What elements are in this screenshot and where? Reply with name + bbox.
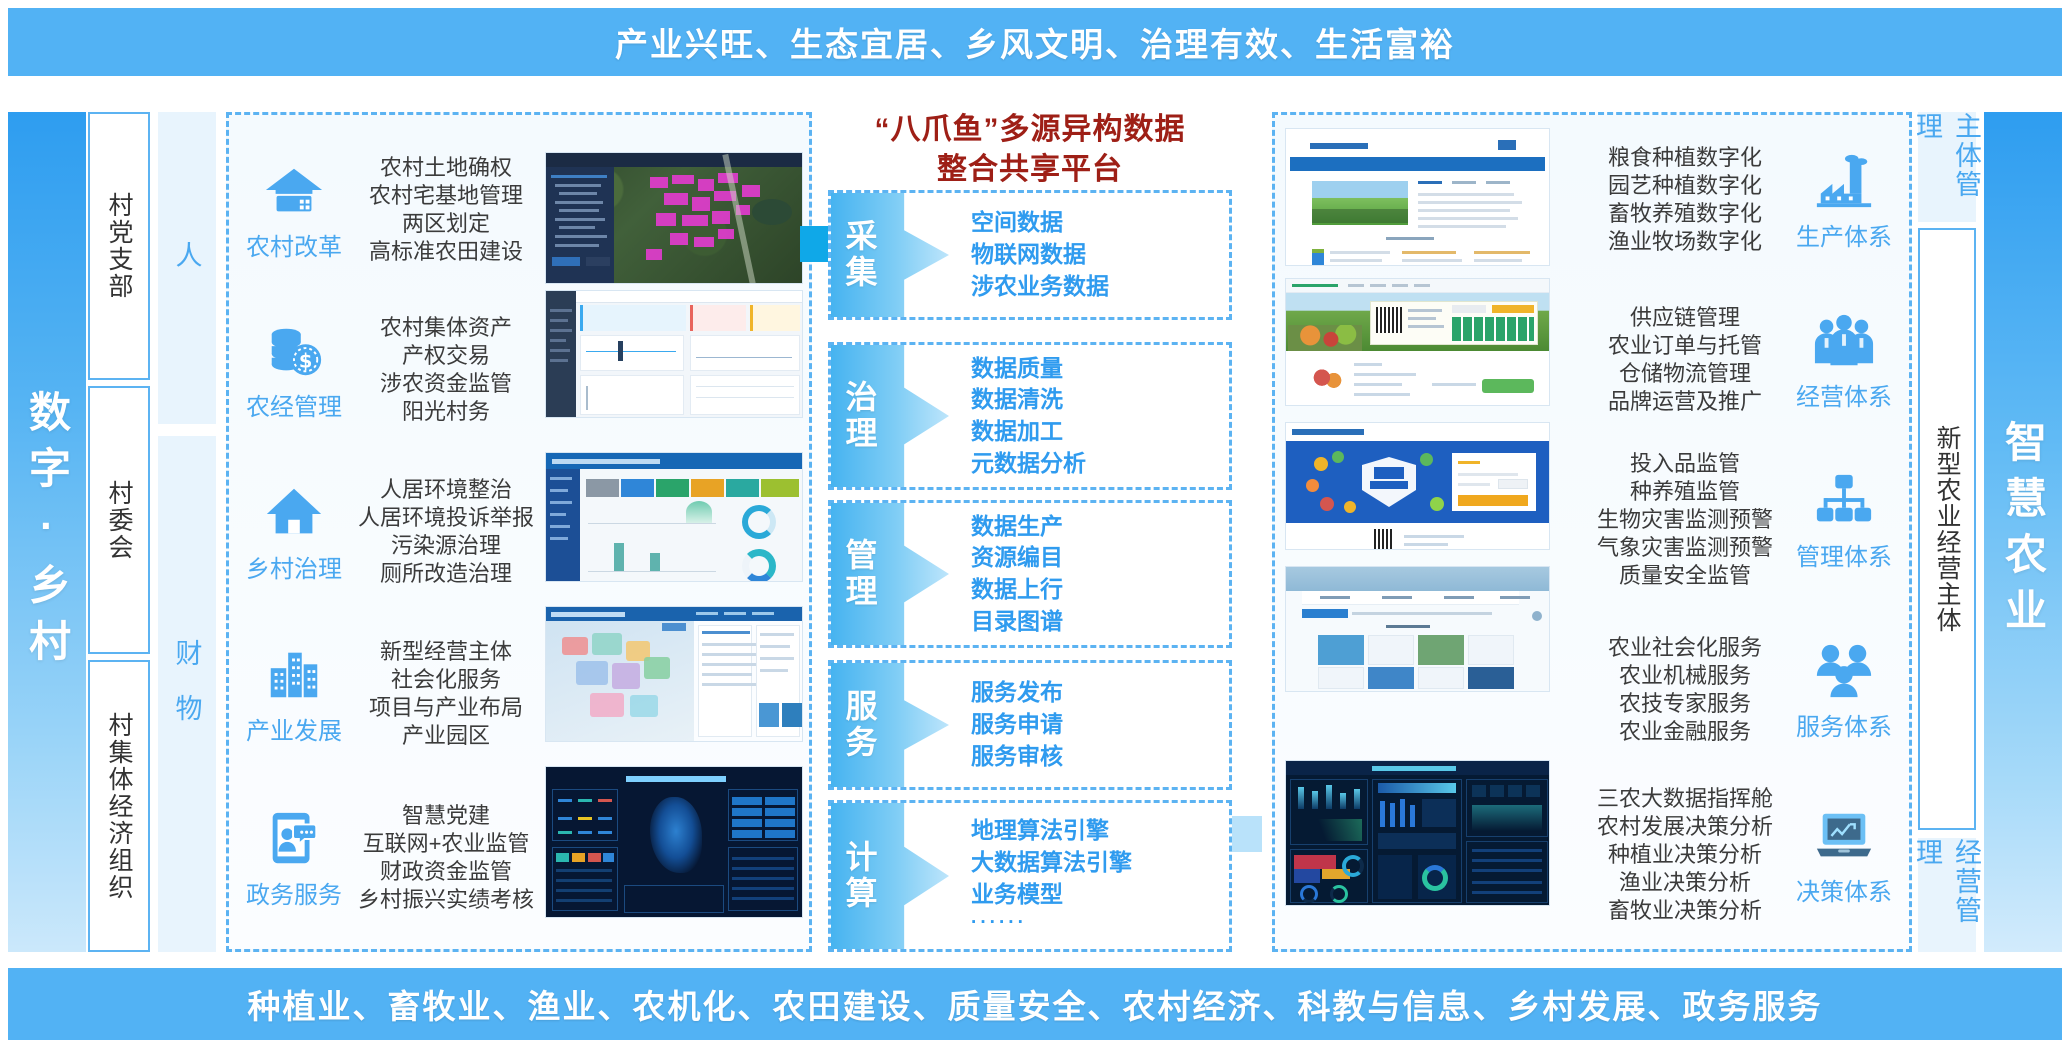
org-box-village-committee: 村委会 xyxy=(88,386,150,654)
stage-chevron: 管理 xyxy=(831,503,949,645)
function-icon-block: 生产体系 xyxy=(1784,149,1904,252)
function-row-production-system[interactable]: 粮食种植数字化 园艺种植数字化 畜牧养殖数字化 渔业牧场数字化 生产体系 xyxy=(1586,130,1904,270)
left-vertical-title-bar: 数字·乡村 xyxy=(8,112,86,952)
org-box-village-party-branch: 村党支部 xyxy=(88,112,150,380)
stage-items: 地理算法引擎 大数据算法引擎 业务模型 ······ xyxy=(949,803,1229,949)
asset-transaction-dashboard-screenshot[interactable] xyxy=(545,290,803,418)
function-row-management-system[interactable]: 投入品监管 种养殖监管 生物灾害监测预警 气象灾害监测预警 质量安全监管 管理体… xyxy=(1586,440,1904,600)
platform-stage-service[interactable]: 服务 服务发布 服务申请 服务审核 xyxy=(828,660,1232,790)
diagram-canvas: 产业兴旺、生态宜居、乡风文明、治理有效、生活富裕 数字·乡村 村党支部 村委会 … xyxy=(0,0,2070,1050)
produce-traceability-portal-screenshot[interactable] xyxy=(1285,278,1550,406)
stage-name: 管理 xyxy=(831,538,893,610)
function-label: 农经管理 xyxy=(246,387,342,422)
function-items: 农村土地确权 农村宅基地管理 两区划定 高标准农田建设 xyxy=(354,154,534,267)
dark-analytics-dashboard-screenshot[interactable] xyxy=(1285,760,1550,906)
function-icon-block: 政务服务 xyxy=(234,807,354,910)
stage-chevron: 服务 xyxy=(831,663,949,787)
bottom-banner-text: 种植业、畜牧业、渔业、农机化、农田建设、质量安全、农村经济、科教与信息、乡村发展… xyxy=(248,980,1823,1028)
right-vertical-title-bar: 智慧农业 xyxy=(1984,112,2062,952)
stage-items: 数据质量 数据清洗 数据加工 元数据分析 xyxy=(949,345,1229,487)
org-chart-icon xyxy=(1813,469,1875,531)
function-label: 服务体系 xyxy=(1796,707,1892,742)
stage-chevron: 计算 xyxy=(831,803,949,949)
function-items: 三农大数据指挥舱 农村发展决策分析 种植业决策分析 渔业决策分析 畜牧业决策分析 xyxy=(1586,785,1784,926)
stage-chevron: 采集 xyxy=(831,193,949,317)
function-items: 投入品监管 种养殖监管 生物灾害监测预警 气象灾害监测预警 质量安全监管 xyxy=(1586,450,1784,591)
function-label: 乡村治理 xyxy=(246,549,342,584)
bottom-banner: 种植业、畜牧业、渔业、农机化、农田建设、质量安全、农村经济、科教与信息、乡村发展… xyxy=(8,968,2062,1040)
stage-name: 治理 xyxy=(831,380,893,452)
label-column-finance-assets: 财物 xyxy=(158,436,216,952)
satellite-parcel-map-screenshot[interactable] xyxy=(545,152,803,284)
factory-production-icon xyxy=(1813,149,1875,211)
label-column-entity-management: 主体管理 xyxy=(1918,112,1976,222)
laptop-chart-icon xyxy=(1813,804,1875,866)
function-label: 生产体系 xyxy=(1796,217,1892,252)
platform-title-line1: “八爪鱼”多源异构数据 xyxy=(828,110,1232,150)
function-items: 供应链管理 农业订单与托管 仓储物流管理 品牌运营及推广 xyxy=(1586,304,1784,417)
safety-traceability-login-screenshot[interactable] xyxy=(1285,422,1550,550)
function-icon-block: $ 农经管理 xyxy=(234,319,354,422)
stage-name: 采集 xyxy=(831,219,893,291)
connector-left-collect xyxy=(800,226,830,262)
three-people-service-icon xyxy=(1813,639,1875,701)
platform-stage-manage[interactable]: 管理 数据生产 资源编目 数据上行 目录图谱 xyxy=(828,500,1232,648)
coins-money-icon: $ xyxy=(263,319,325,381)
top-banner: 产业兴旺、生态宜居、乡风文明、治理有效、生活富裕 xyxy=(8,8,2062,76)
function-items: 农业社会化服务 农业机械服务 农技专家服务 农业金融服务 xyxy=(1586,634,1784,747)
function-label: 政务服务 xyxy=(246,875,342,910)
function-label: 产业发展 xyxy=(246,711,342,746)
function-row-rural-economy[interactable]: $ 农经管理 农村集体资产 产权交易 涉农资金监管 阳光村务 xyxy=(234,300,534,440)
org-box-collective-economy: 村集体经济组织 xyxy=(88,660,150,952)
svg-text:$: $ xyxy=(299,349,312,372)
function-icon-block: 乡村治理 xyxy=(234,481,354,584)
stage-name: 服务 xyxy=(831,689,893,761)
people-business-icon xyxy=(1813,309,1875,371)
digital-village-services-screenshot[interactable] xyxy=(1285,566,1550,692)
left-vertical-title: 数字·乡村 xyxy=(17,390,78,675)
function-row-business-system[interactable]: 供应链管理 农业订单与托管 仓储物流管理 品牌运营及推广 经营体系 xyxy=(1586,290,1904,430)
function-items: 粮食种植数字化 园艺种植数字化 畜牧养殖数字化 渔业牧场数字化 xyxy=(1586,144,1784,257)
platform-stage-compute[interactable]: 计算 地理算法引擎 大数据算法引擎 业务模型 ······ xyxy=(828,800,1232,952)
platform-title: “八爪鱼”多源异构数据 整合共享平台 xyxy=(828,110,1232,189)
function-row-government-service[interactable]: 政务服务 智慧党建 互联网+农业监管 财政资金监管 乡村振兴实绩考核 xyxy=(234,788,534,928)
governance-kpi-dashboard-screenshot[interactable] xyxy=(545,452,803,582)
top-banner-text: 产业兴旺、生态宜居、乡风文明、治理有效、生活富裕 xyxy=(615,18,1455,66)
function-row-service-system[interactable]: 农业社会化服务 农业机械服务 农技专家服务 农业金融服务 服务体系 xyxy=(1586,620,1904,760)
stage-name: 计算 xyxy=(831,840,893,912)
stage-items: 空间数据 物联网数据 涉农业务数据 xyxy=(949,193,1229,317)
function-row-rural-governance[interactable]: 乡村治理 人居环境整治 人居环境投诉举报 污染源治理 厕所改造治理 xyxy=(234,462,534,602)
home-governance-icon xyxy=(263,481,325,543)
function-label: 农村改革 xyxy=(246,227,342,262)
platform-stage-collect[interactable]: 采集 空间数据 物联网数据 涉农业务数据 xyxy=(828,190,1232,320)
platform-title-line2: 整合共享平台 xyxy=(828,150,1232,190)
org-box-new-agricultural-entity: 新型农业经营主体 xyxy=(1918,228,1976,830)
function-label: 管理体系 xyxy=(1796,537,1892,572)
label-column-people: 人 xyxy=(158,112,216,424)
function-icon-block: 经营体系 xyxy=(1784,309,1904,412)
function-label: 决策体系 xyxy=(1796,872,1892,907)
stage-chevron: 治理 xyxy=(831,345,949,487)
function-items: 人居环境整治 人居环境投诉举报 污染源治理 厕所改造治理 xyxy=(354,476,534,589)
platform-stage-govern[interactable]: 治理 数据质量 数据清洗 数据加工 元数据分析 xyxy=(828,342,1232,490)
buildings-industry-icon xyxy=(263,643,325,705)
function-items: 农村集体资产 产权交易 涉农资金监管 阳光村务 xyxy=(354,314,534,427)
stage-items: 数据生产 资源编目 数据上行 目录图谱 xyxy=(949,503,1229,645)
dark-command-center-screenshot[interactable] xyxy=(545,766,803,918)
industry-map-portal-screenshot[interactable] xyxy=(545,606,803,742)
function-items: 新型经营主体 社会化服务 项目与产业布局 产业园区 xyxy=(354,638,534,751)
function-icon-block: 服务体系 xyxy=(1784,639,1904,742)
right-vertical-title: 智慧农业 xyxy=(1993,420,2054,644)
function-row-industry-development[interactable]: 产业发展 新型经营主体 社会化服务 项目与产业布局 产业园区 xyxy=(234,624,534,764)
agriculture-government-portal-screenshot[interactable] xyxy=(1285,128,1550,266)
function-icon-block: 农村改革 xyxy=(234,159,354,262)
function-icon-block: 管理体系 xyxy=(1784,469,1904,572)
mobile-service-icon xyxy=(263,807,325,869)
connector-right-compute xyxy=(1232,816,1262,852)
function-items: 智慧党建 互联网+农业监管 财政资金监管 乡村振兴实绩考核 xyxy=(354,802,534,915)
function-label: 经营体系 xyxy=(1796,377,1892,412)
function-row-rural-reform[interactable]: 农村改革 农村土地确权 农村宅基地管理 两区划定 高标准农田建设 xyxy=(234,140,534,280)
function-row-decision-system[interactable]: 三农大数据指挥舱 农村发展决策分析 种植业决策分析 渔业决策分析 畜牧业决策分析… xyxy=(1586,780,1904,930)
function-icon-block: 决策体系 xyxy=(1784,804,1904,907)
function-icon-block: 产业发展 xyxy=(234,643,354,746)
house-reform-icon xyxy=(263,159,325,221)
stage-items: 服务发布 服务申请 服务审核 xyxy=(949,663,1229,787)
label-column-operation-management: 经营管理 xyxy=(1918,838,1976,952)
